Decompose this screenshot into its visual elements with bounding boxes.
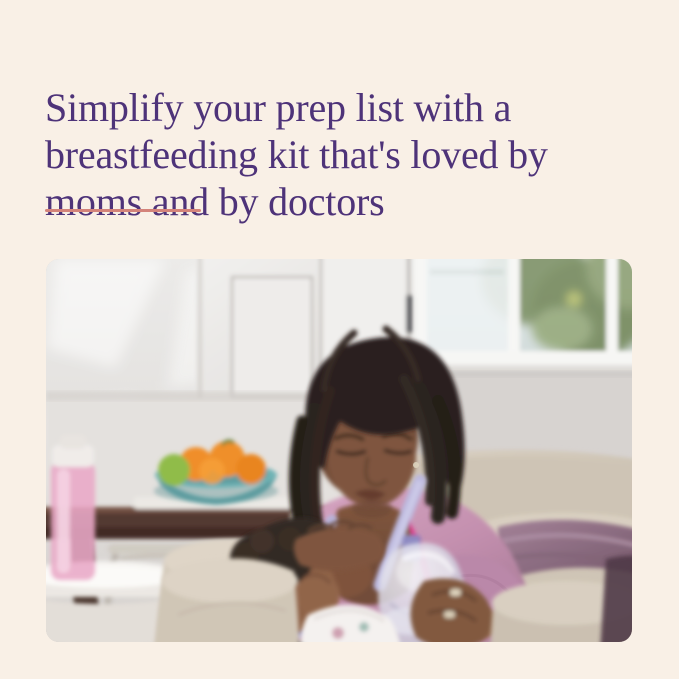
- hero-photo: [46, 259, 632, 642]
- promo-page: Simplify your prep list with a breastfee…: [0, 0, 679, 679]
- title-divider: [45, 209, 201, 212]
- hero-photo-illustration: [46, 259, 632, 642]
- page-title: Simplify your prep list with a breastfee…: [45, 84, 645, 225]
